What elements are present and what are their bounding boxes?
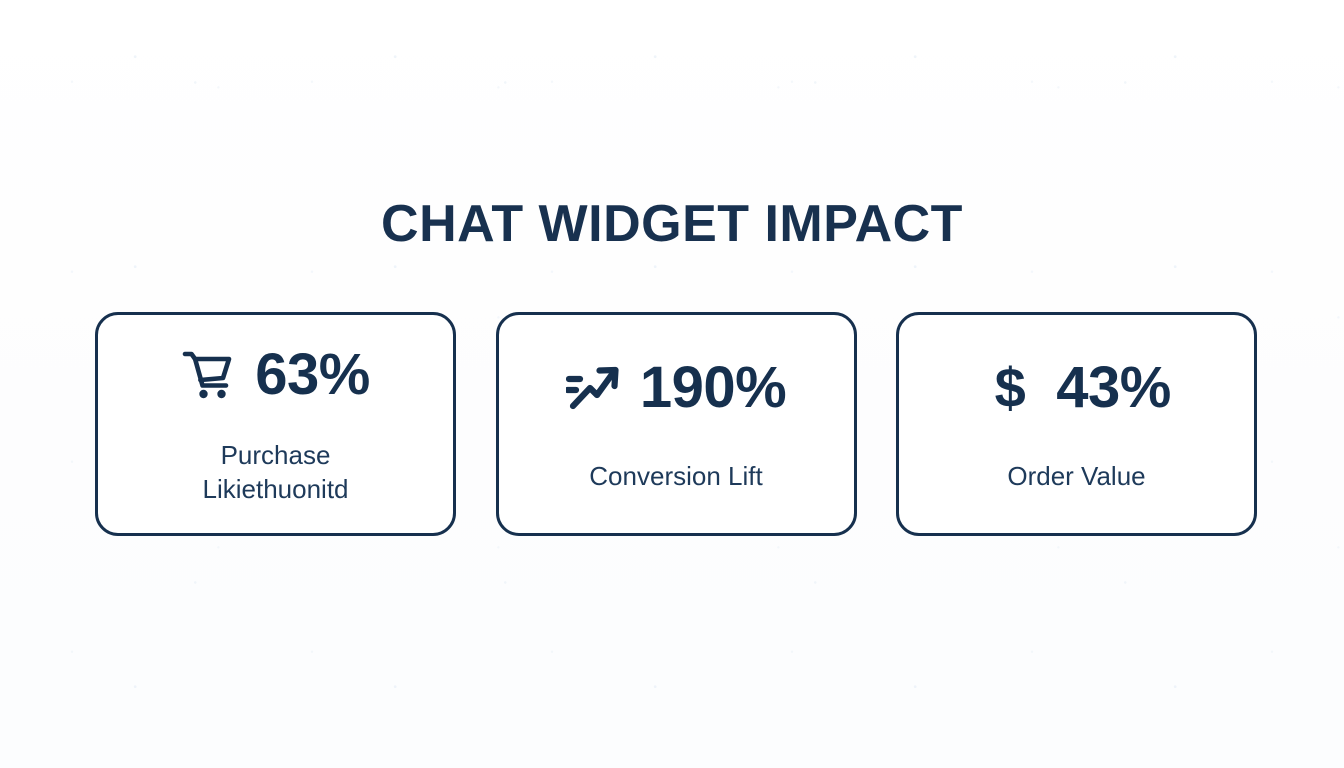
stat-card-purchase[interactable]: 63% Purchase Likiethuonitd	[95, 312, 456, 536]
metric-value: 190%	[640, 357, 786, 419]
stat-cards-row: 63% Purchase Likiethuonitd 190%	[95, 312, 1257, 536]
metric-label-line1: Purchase	[221, 440, 331, 470]
metric-value: 43%	[1056, 357, 1171, 419]
metric-label: Conversion Lift	[589, 459, 762, 493]
metric-row: 190%	[566, 351, 786, 425]
stat-card-conversion[interactable]: 190% Conversion Lift	[496, 312, 857, 536]
metric-row: $ 43%	[982, 351, 1171, 425]
metric-value: 63%	[255, 344, 370, 406]
trending-up-icon	[566, 360, 622, 416]
page-title: CHAT WIDGET IMPACT	[0, 196, 1344, 252]
stat-card-order-value[interactable]: $ 43% Order Value	[896, 312, 1257, 536]
metric-label-line2: Likiethuonitd	[203, 474, 349, 504]
metric-label: Order Value	[1007, 459, 1145, 493]
shopping-cart-icon	[181, 347, 237, 403]
infographic-canvas: CHAT WIDGET IMPACT 63% Purchase Lik	[0, 0, 1344, 768]
metric-row: 63%	[181, 338, 370, 412]
dollar-sign-icon: $	[982, 360, 1038, 416]
metric-label: Purchase Likiethuonitd	[203, 438, 349, 506]
